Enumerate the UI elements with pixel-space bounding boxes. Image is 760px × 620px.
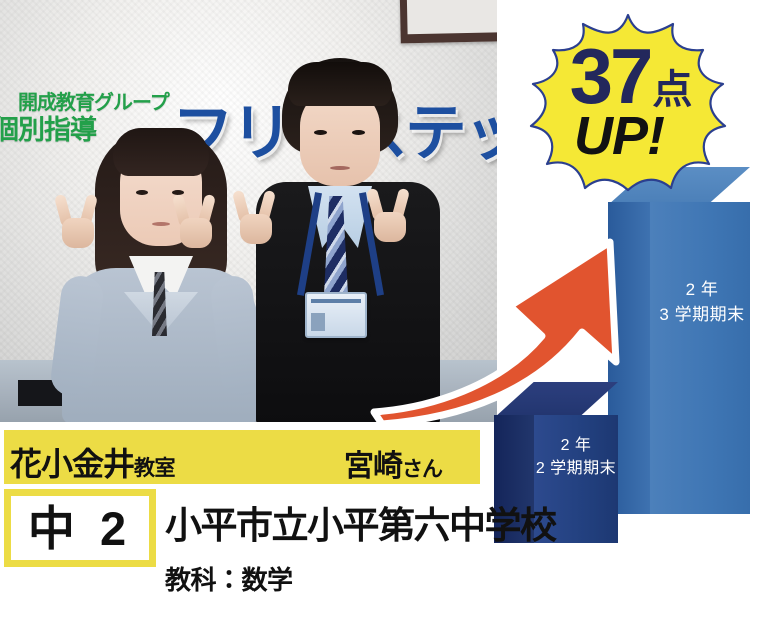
girl-eye-left	[136, 190, 148, 195]
points-up-badge: 37 点 UP!	[487, 12, 760, 192]
boy-hand-left-peace-sign	[236, 192, 276, 244]
subject-label: 教科：数学	[165, 560, 293, 597]
bar-2-label: 2 年 3 学期期末	[652, 278, 752, 327]
classroom-name-suffix: 教室	[134, 457, 175, 480]
bar-1-label-line1: 2 年	[522, 434, 630, 457]
bar-1-label-line2: 2 学期期末	[522, 457, 630, 480]
girl-hand-left-peace-sign	[58, 196, 98, 248]
bar-1-label: 2 年 2 学期期末	[522, 434, 630, 480]
girl-bangs	[113, 128, 209, 176]
girl-mouth	[152, 222, 170, 226]
starburst-shape	[487, 12, 760, 192]
grade-box: 中 2	[4, 489, 156, 567]
boy-id-badge	[305, 292, 367, 338]
framed-certificate	[399, 0, 497, 43]
signage-brand-sub: 個別指導	[0, 108, 96, 147]
bar-2-label-line2: 3 学期期末	[652, 303, 752, 328]
promo-result-card: 開成教育グループ 個別指導 フリーステップ	[0, 0, 760, 620]
school-name: 小平市立小平第六中学校	[165, 495, 556, 549]
bar-2-label-line1: 2 年	[652, 278, 752, 303]
boy-eye-left	[314, 130, 327, 135]
boy-eye-right	[352, 130, 365, 135]
bar-2-front-face	[650, 202, 750, 514]
boy-fringe	[288, 62, 392, 106]
classroom-name: 花小金井教室	[10, 439, 175, 485]
grade-label: 中 2	[28, 505, 132, 552]
classroom-name-main: 花小金井	[10, 446, 134, 482]
student-name-honorific: さん	[402, 458, 442, 481]
student-name: 宮崎さん	[344, 441, 442, 485]
girl-hand-right-peace-sign	[176, 196, 216, 248]
boy-mouth	[330, 166, 350, 170]
student-name-main: 宮崎	[344, 450, 402, 483]
